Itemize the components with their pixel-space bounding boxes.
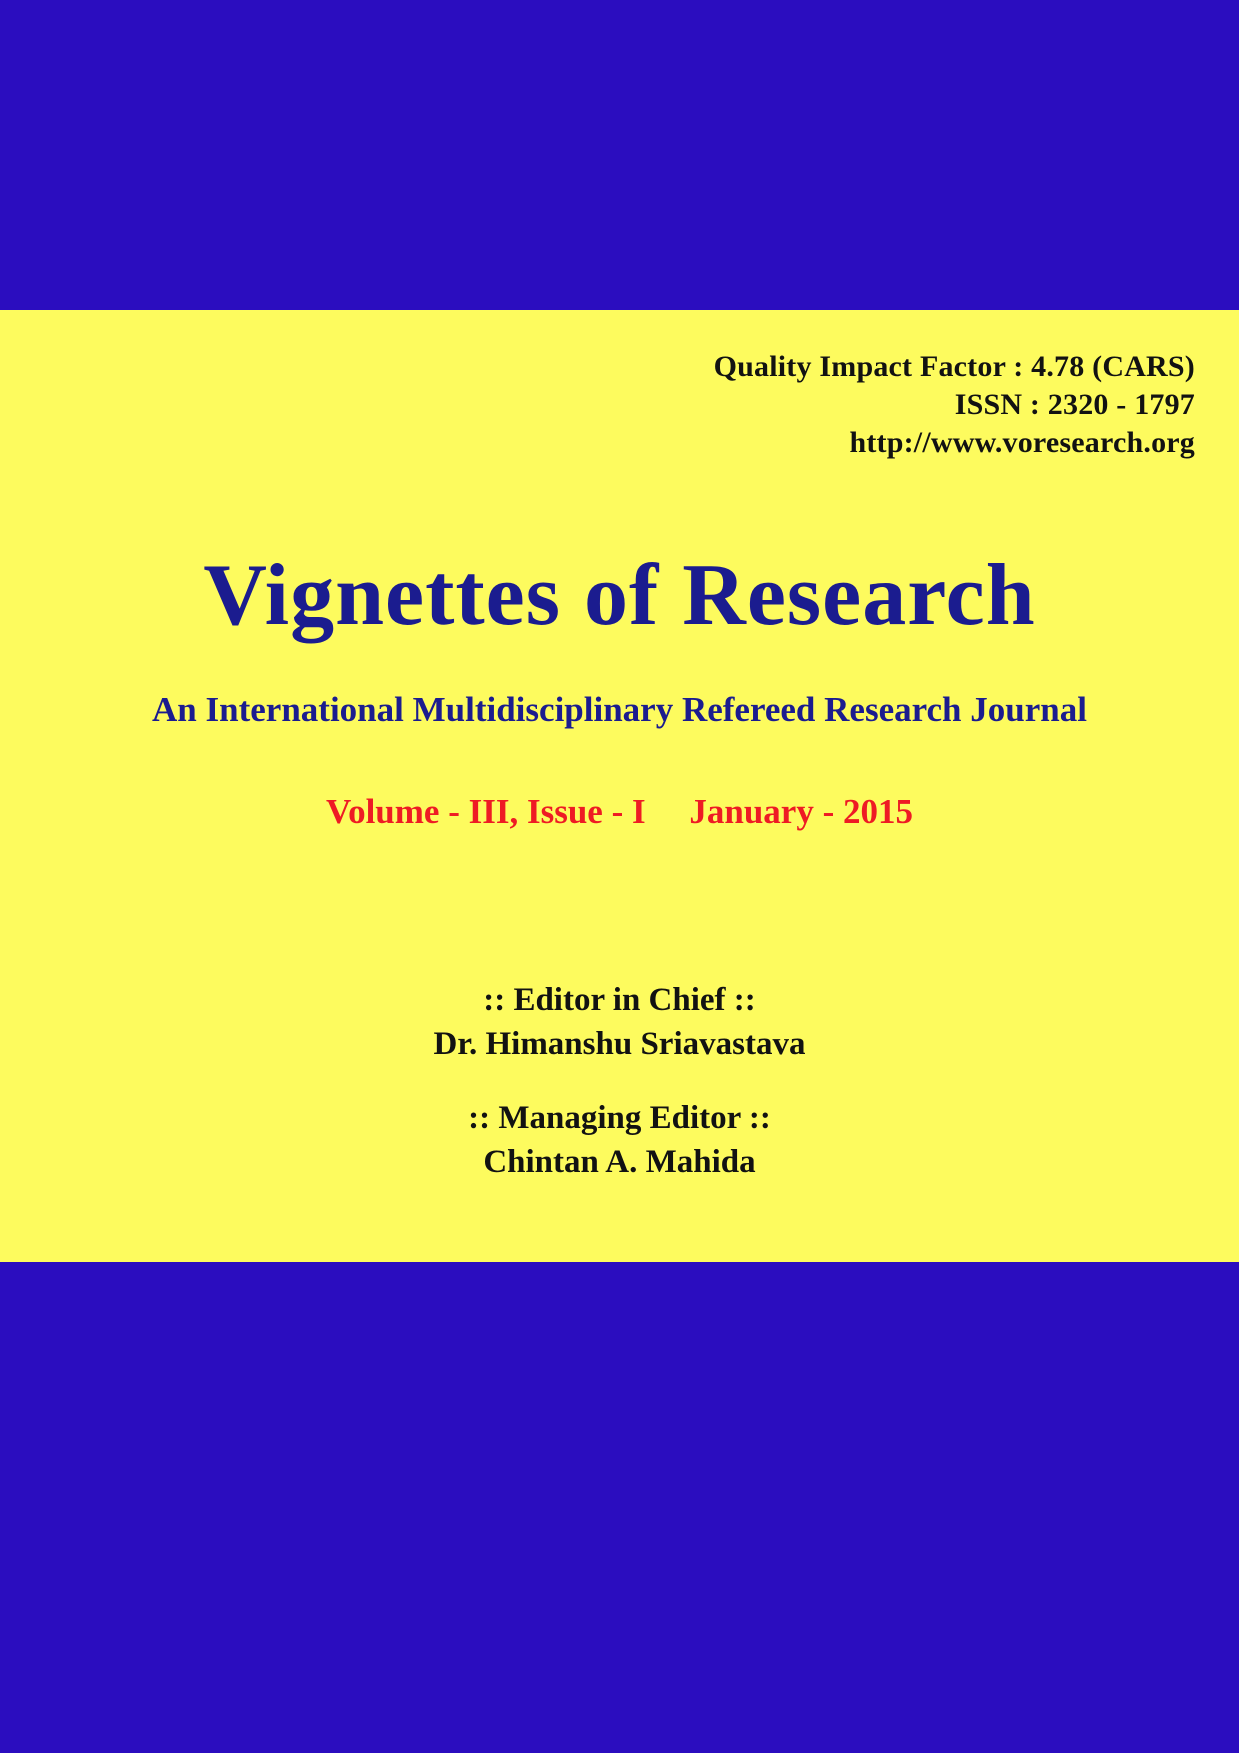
editor-in-chief-label: :: Editor in Chief :: bbox=[0, 978, 1239, 1022]
managing-editor-label: :: Managing Editor :: bbox=[0, 1096, 1239, 1140]
editor-in-chief-name: Dr. Himanshu Sriavastava bbox=[0, 1022, 1239, 1066]
journal-subtitle: An International Multidisciplinary Refer… bbox=[0, 688, 1239, 732]
editorial-spacer bbox=[0, 1066, 1239, 1096]
journal-title: Vignettes of Research bbox=[0, 548, 1239, 644]
journal-cover: Quality Impact Factor : 4.78 (CARS) ISSN… bbox=[0, 0, 1239, 1753]
bottom-color-band bbox=[0, 1262, 1239, 1753]
issn-text: ISSN : 2320 - 1797 bbox=[0, 386, 1195, 424]
volume-issue-date: Volume - III, Issue - I January - 2015 bbox=[0, 790, 1239, 834]
impact-factor-text: Quality Impact Factor : 4.78 (CARS) bbox=[0, 348, 1195, 386]
masthead-metadata: Quality Impact Factor : 4.78 (CARS) ISSN… bbox=[0, 348, 1195, 462]
journal-website-url: http://www.voresearch.org bbox=[0, 424, 1195, 462]
managing-editor-name: Chintan A. Mahida bbox=[0, 1140, 1239, 1184]
top-color-band bbox=[0, 0, 1239, 310]
editorial-block: :: Editor in Chief :: Dr. Himanshu Sriav… bbox=[0, 978, 1239, 1184]
